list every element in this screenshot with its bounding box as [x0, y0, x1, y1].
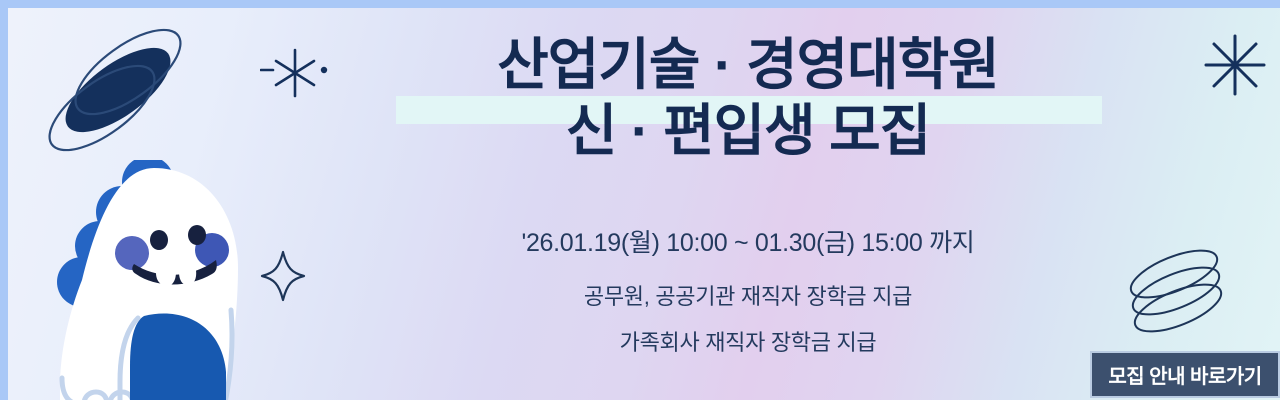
title-line-1: 산업기술 · 경영대학원 — [288, 34, 1208, 96]
dinosaur-mascot — [26, 160, 266, 400]
page-title: 산업기술 · 경영대학원 신 · 편입생 모집 — [288, 34, 1208, 162]
promo-banner: 산업기술 · 경영대학원 신 · 편입생 모집 '26.01.19(월) 10:… — [0, 0, 1280, 400]
rings-top-left-decoration — [40, 12, 190, 162]
title-line-2: 신 · 편입생 모집 — [288, 100, 1208, 162]
recruitment-info-button[interactable]: 모집 안내 바로가기 — [1090, 351, 1280, 398]
mascot-eye-left — [150, 230, 168, 250]
sparkle-star-right-icon — [1200, 30, 1270, 100]
scholarship-note-2: 가족회사 재직자 장학금 지급 — [288, 328, 1208, 358]
mascot-eye-right — [188, 225, 206, 245]
banner-copy: 산업기술 · 경영대학원 신 · 편입생 모집 '26.01.19(월) 10:… — [288, 8, 1208, 400]
banner-background: 산업기술 · 경영대학원 신 · 편입생 모집 '26.01.19(월) 10:… — [8, 8, 1280, 400]
mascot-blush-left — [115, 236, 149, 270]
banner-details: '26.01.19(월) 10:00 ~ 01.30(금) 15:00 까지 공… — [288, 226, 1208, 374]
scholarship-note-1: 공무원, 공공기관 재직자 장학금 지급 — [288, 282, 1208, 312]
application-period-text: '26.01.19(월) 10:00 ~ 01.30(금) 15:00 까지 — [288, 226, 1208, 260]
